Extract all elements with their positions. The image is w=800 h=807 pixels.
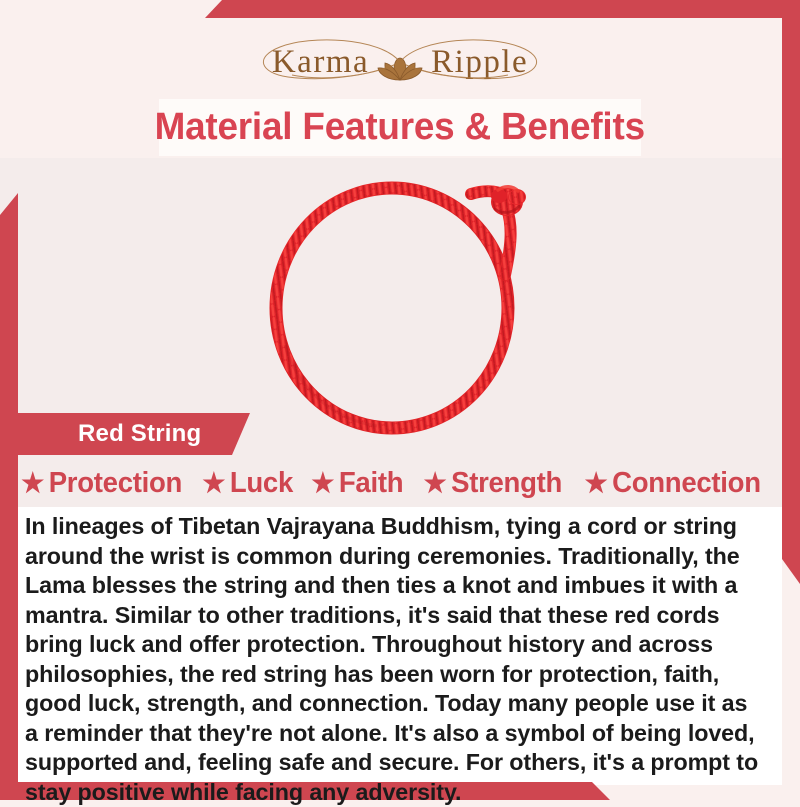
- benefit-label: Luck: [230, 467, 293, 500]
- page-title: Material Features & Benefits: [155, 106, 645, 149]
- lotus-icon: [377, 39, 423, 85]
- section-tag-label: Red String: [78, 420, 201, 448]
- benefits-list: ★ Protection ★ Luck ★ Faith ★ Strength ★…: [18, 463, 764, 503]
- benefit-item-faith: ★ Faith: [312, 467, 404, 500]
- star-icon: ★: [585, 470, 608, 497]
- benefit-item-strength: ★ Strength: [424, 467, 562, 500]
- brand-word-right: Ripple: [431, 46, 528, 79]
- product-image-red-string-bracelet: [255, 165, 555, 445]
- star-icon: ★: [202, 470, 225, 497]
- benefit-label: Strength: [451, 467, 562, 500]
- brand-logo: Karma Ripple: [0, 34, 800, 90]
- infographic-page: Karma Ripple Material Features & Benefit…: [0, 0, 800, 800]
- benefit-item-connection: ★ Connection: [585, 467, 761, 500]
- frame-right-bar: [782, 14, 800, 584]
- bracelet-knot: [491, 187, 526, 216]
- benefit-label: Protection: [48, 467, 181, 500]
- benefit-item-luck: ★ Luck: [202, 467, 293, 500]
- benefit-item-protection: ★ Protection: [21, 467, 182, 500]
- brand-word-left: Karma: [272, 46, 369, 79]
- star-icon: ★: [424, 470, 447, 497]
- section-tag-red-string: Red String: [18, 413, 250, 455]
- description-text: In lineages of Tibetan Vajrayana Buddhis…: [25, 512, 766, 807]
- benefit-label: Faith: [339, 467, 403, 500]
- benefit-label: Connection: [612, 467, 761, 500]
- title-band: Material Features & Benefits: [159, 99, 641, 156]
- star-icon: ★: [312, 470, 335, 497]
- star-icon: ★: [21, 470, 44, 497]
- frame-left-bar: [0, 193, 18, 800]
- frame-top-bar: [0, 0, 800, 18]
